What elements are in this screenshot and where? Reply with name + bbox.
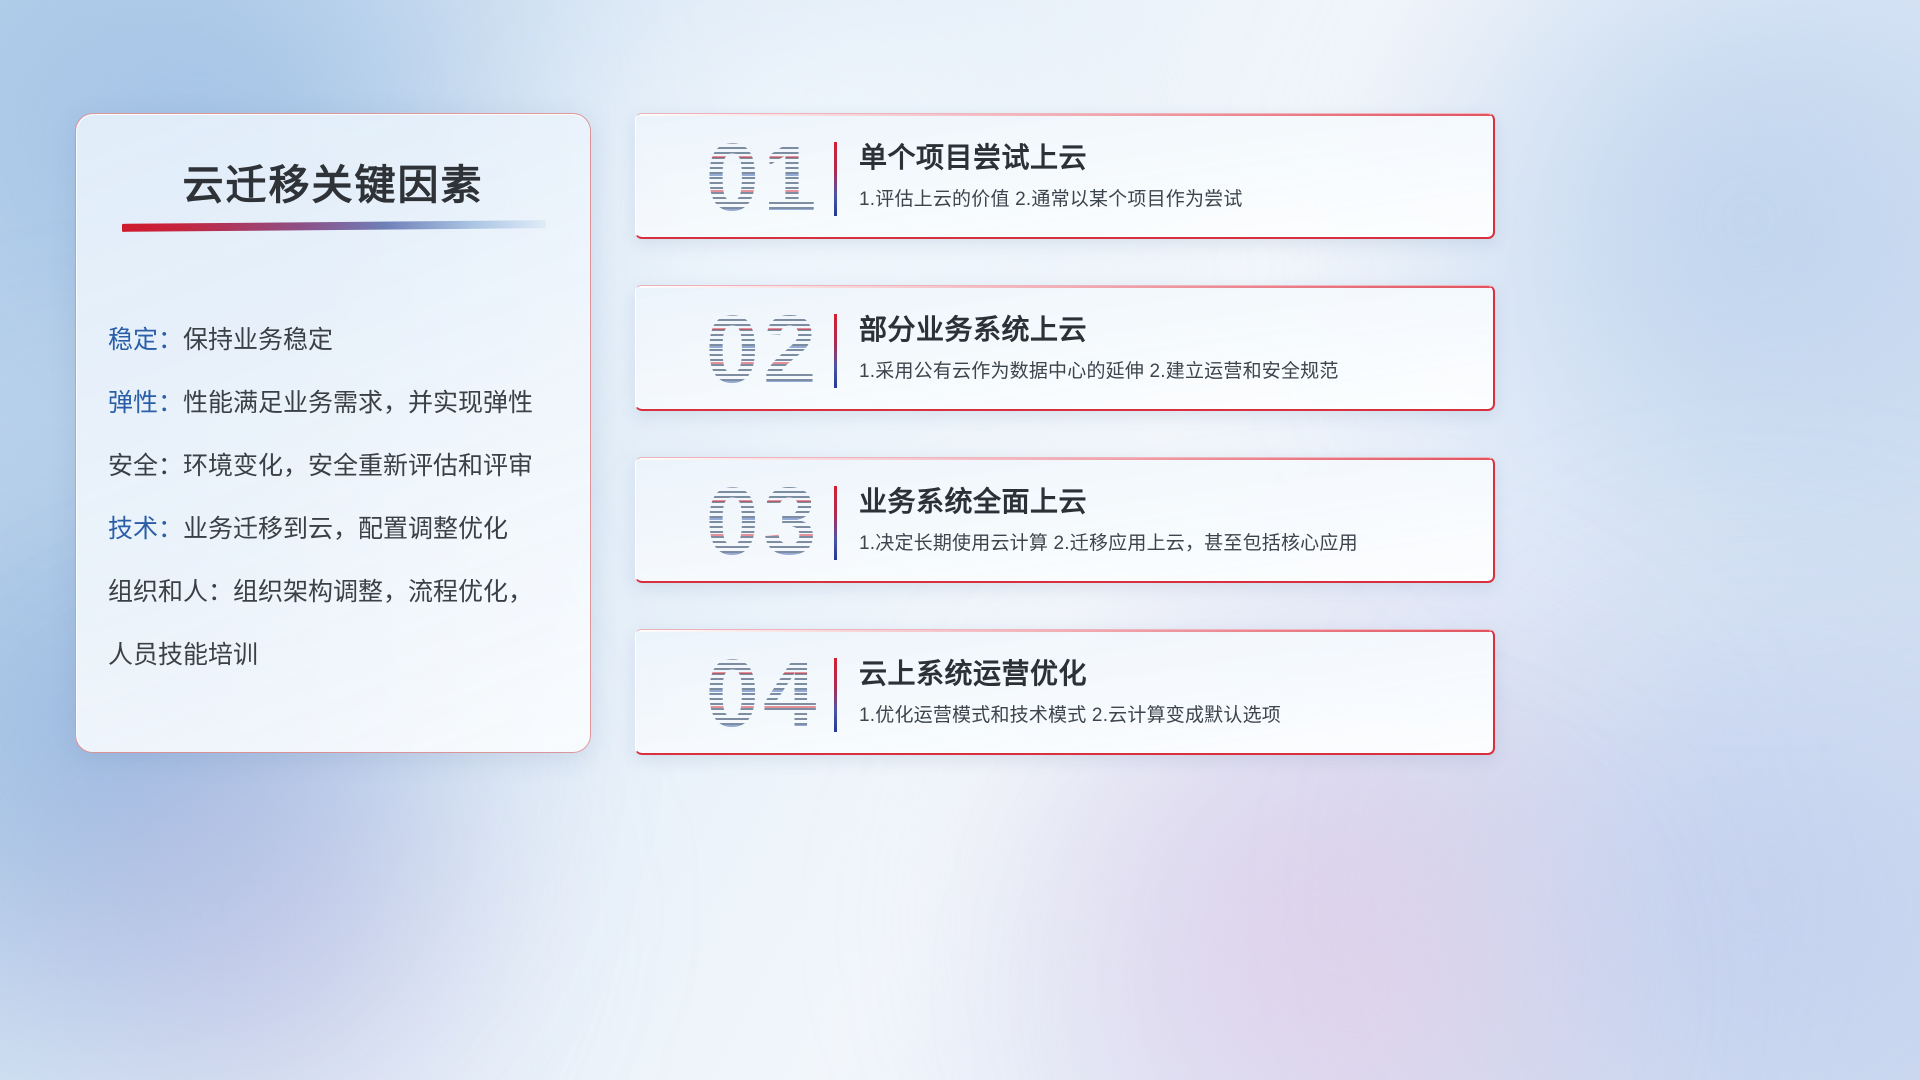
stage-title: 业务系统全面上云 bbox=[859, 480, 1087, 520]
slide-content: 云迁移关键因素 稳定：保持业务稳定 弹性：性能满足业务需求，并实现弹性 安全：环… bbox=[0, 0, 1920, 1080]
list-item-text: 人员技能培训 bbox=[108, 641, 258, 669]
key-factors-list: 稳定：保持业务稳定 弹性：性能满足业务需求，并实现弹性 安全：环境变化，安全重新… bbox=[108, 309, 570, 687]
stage-description: 1.采用公有云作为数据中心的延伸 2.建立运营和安全规范 bbox=[859, 356, 1339, 383]
stage-card-02[interactable]: 02 02 部分业务系统上云 1.采用公有云作为数据中心的延伸 2.建立运营和安… bbox=[635, 285, 1495, 411]
stage-description: 1.优化运营模式和技术模式 2.云计算变成默认选项 bbox=[859, 700, 1281, 727]
stage-title: 单个项目尝试上云 bbox=[859, 136, 1087, 176]
list-item: 技术：业务迁移到云，配置调整优化 bbox=[108, 498, 570, 561]
list-item-key: 技术： bbox=[108, 515, 183, 543]
title-underline bbox=[122, 220, 546, 232]
key-factors-card: 云迁移关键因素 稳定：保持业务稳定 弹性：性能满足业务需求，并实现弹性 安全：环… bbox=[75, 113, 591, 753]
list-item-key: 组织和人： bbox=[108, 578, 233, 606]
stage-card-04[interactable]: 04 04 云上系统运营优化 1.优化运营模式和技术模式 2.云计算变成默认选项 bbox=[635, 629, 1495, 755]
stage-description: 1.评估上云的价值 2.通常以某个项目作为尝试 bbox=[859, 184, 1243, 211]
list-item-key: 安全： bbox=[108, 452, 183, 480]
list-item: 弹性：性能满足业务需求，并实现弹性 bbox=[108, 372, 570, 435]
list-item: 稳定：保持业务稳定 bbox=[108, 309, 570, 372]
stage-card-01[interactable]: 01 01 单个项目尝试上云 1.评估上云的价值 2.通常以某个项目作为尝试 bbox=[635, 113, 1495, 239]
list-item-key: 弹性： bbox=[108, 389, 183, 417]
list-item-text: 性能满足业务需求，并实现弹性 bbox=[183, 389, 533, 417]
list-item: 人员技能培训 bbox=[108, 624, 570, 687]
stage-accent-bar bbox=[834, 142, 837, 216]
stage-description: 1.决定长期使用云计算 2.迁移应用上云，甚至包括核心应用 bbox=[859, 528, 1358, 555]
stage-title: 云上系统运营优化 bbox=[859, 652, 1087, 692]
list-item: 安全：环境变化，安全重新评估和评审 bbox=[108, 435, 570, 498]
stage-title: 部分业务系统上云 bbox=[859, 308, 1087, 348]
stage-accent-bar bbox=[834, 658, 837, 732]
page-title: 云迁移关键因素 bbox=[76, 151, 590, 211]
stage-accent-bar bbox=[834, 314, 837, 388]
list-item: 组织和人：组织架构调整，流程优化， bbox=[108, 561, 570, 624]
list-item-text: 业务迁移到云，配置调整优化 bbox=[183, 515, 508, 543]
stage-card-03[interactable]: 03 03 业务系统全面上云 1.决定长期使用云计算 2.迁移应用上云，甚至包括… bbox=[635, 457, 1495, 583]
stage-accent-bar bbox=[834, 486, 837, 560]
list-item-text: 保持业务稳定 bbox=[183, 326, 333, 354]
list-item-key: 稳定： bbox=[108, 326, 183, 354]
list-item-text: 组织架构调整，流程优化， bbox=[233, 578, 533, 606]
list-item-text: 环境变化，安全重新评估和评审 bbox=[183, 452, 533, 480]
